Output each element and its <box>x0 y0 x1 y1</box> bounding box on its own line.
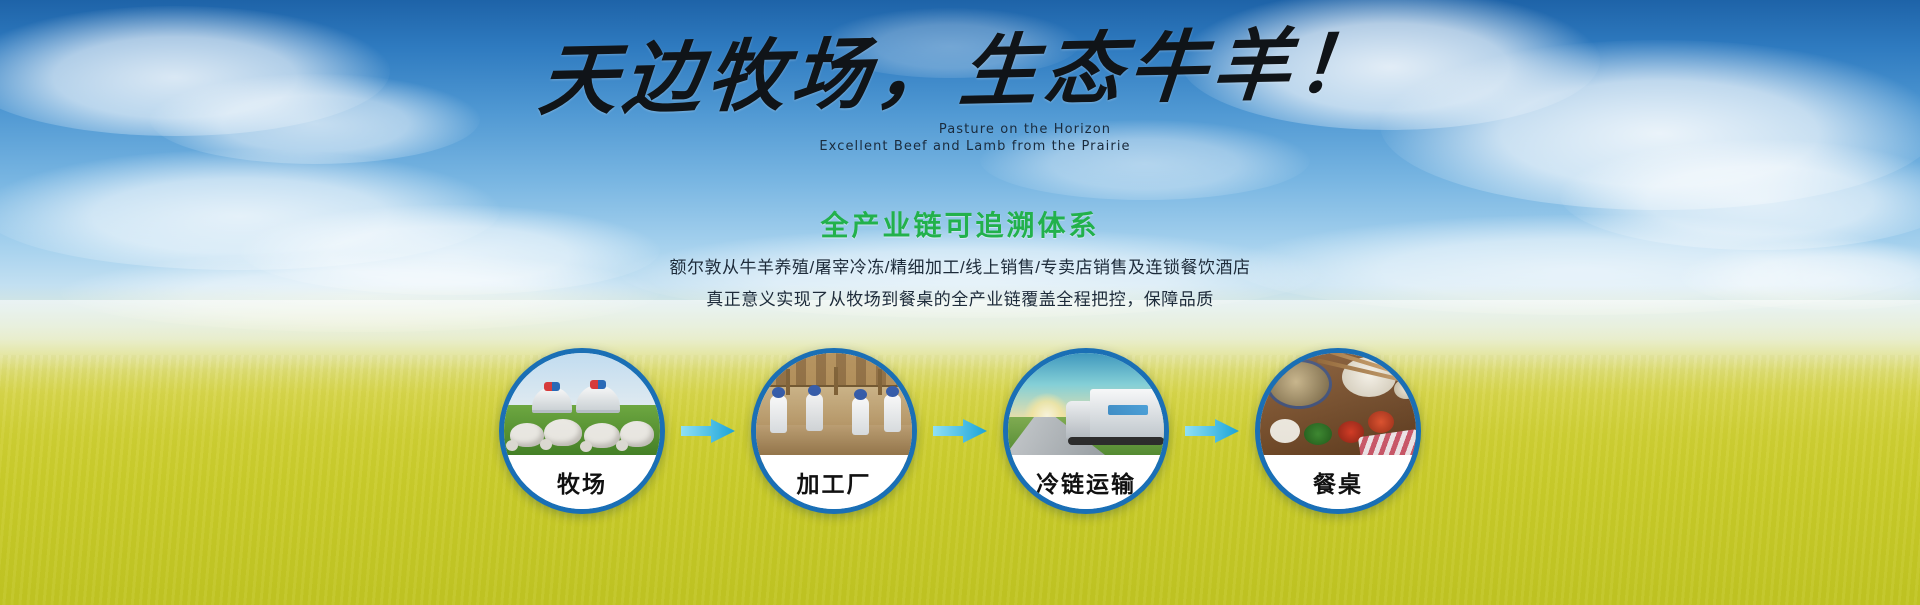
flow-node-label: 加工厂 <box>756 455 912 509</box>
cold-chain-truck-photo <box>1008 353 1164 465</box>
arrow-right-icon <box>665 417 751 445</box>
pasture-photo <box>504 353 660 465</box>
calligraphy-title: 天边牧场，生态牛羊！ <box>0 14 1920 132</box>
arrow-right-icon <box>1169 417 1255 445</box>
flow-node-label: 冷链运输 <box>1008 455 1164 509</box>
description-block: 额尔敦从牛羊养殖/屠宰冷冻/精细加工/线上销售/专卖店销售及连锁餐饮酒店 真正意… <box>0 252 1920 316</box>
flow-node-pasture[interactable]: 牧场 <box>499 348 665 514</box>
description-line-1: 额尔敦从牛羊养殖/屠宰冷冻/精细加工/线上销售/专卖店销售及连锁餐饮酒店 <box>0 252 1920 284</box>
arrow-right-icon <box>917 417 1003 445</box>
dining-table-photo <box>1260 353 1416 465</box>
flow-node-cold-chain[interactable]: 冷链运输 <box>1003 348 1169 514</box>
flow-node-label: 牧场 <box>504 455 660 509</box>
factory-photo <box>756 353 912 465</box>
headline-block: 天边牧场，生态牛羊！ Pasture on the Horizon Excell… <box>0 34 1920 155</box>
flow-node-factory[interactable]: 加工厂 <box>751 348 917 514</box>
supply-chain-flow: 牧场 <box>0 348 1920 514</box>
description-line-2: 真正意义实现了从牧场到餐桌的全产业链覆盖全程把控，保障品质 <box>0 284 1920 316</box>
english-tagline: Pasture on the Horizon Excellent Beef an… <box>0 122 1920 155</box>
green-heading: 全产业链可追溯体系 <box>0 204 1920 244</box>
flow-node-label: 餐桌 <box>1260 455 1416 509</box>
english-tagline-line-2: Excellent Beef and Lamb from the Prairie <box>0 138 1920 155</box>
flow-node-dining-table[interactable]: 餐桌 <box>1255 348 1421 514</box>
promo-banner: 天边牧场，生态牛羊！ Pasture on the Horizon Excell… <box>0 0 1920 605</box>
